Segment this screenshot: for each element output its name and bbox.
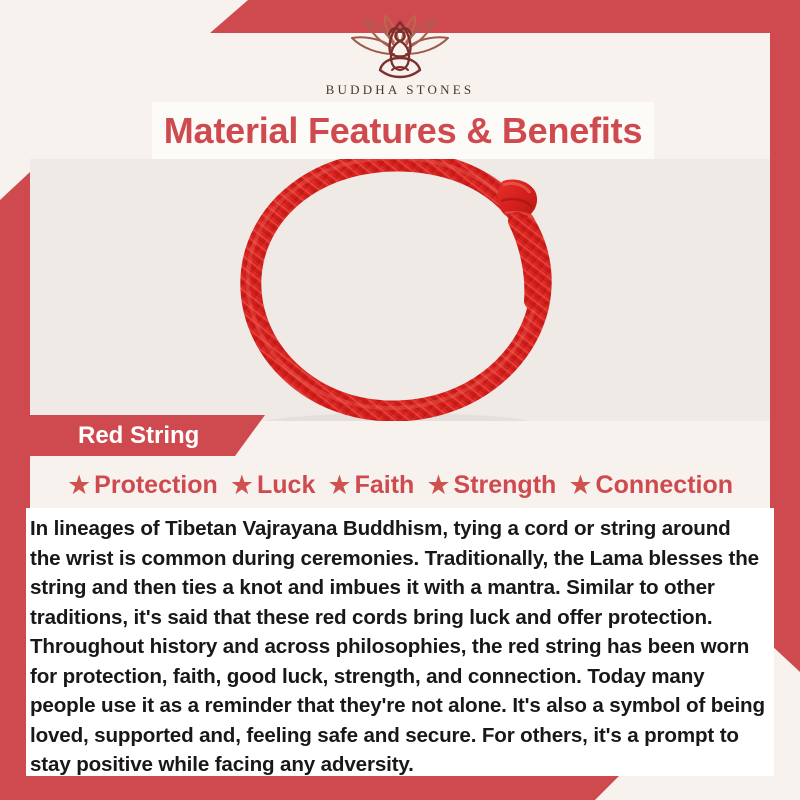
benefit-label: Strength — [454, 471, 557, 500]
benefit-label: Luck — [257, 471, 315, 500]
material-label: Red String — [30, 422, 199, 450]
benefits-row: ★ Protection ★ Luck ★ Faith ★ Strength ★… — [30, 463, 770, 507]
benefit-item: ★ Luck — [226, 471, 320, 500]
brand-name: BUDDHA STONES — [326, 82, 475, 98]
benefit-item: ★ Strength — [422, 471, 560, 500]
star-icon: ★ — [426, 472, 450, 499]
infographic-poster: BUDDHA STONES Material Features & Benefi… — [0, 0, 800, 800]
star-icon: ★ — [568, 472, 592, 499]
benefit-item: ★ Faith — [323, 471, 418, 500]
red-braided-string-bracelet-loop — [185, 159, 615, 421]
star-icon: ★ — [327, 472, 351, 499]
benefit-label: Protection — [94, 471, 218, 500]
page-title: Material Features & Benefits — [164, 110, 643, 152]
benefit-item: ★ Protection — [63, 471, 222, 500]
logo-lockup: BUDDHA STONES — [326, 14, 475, 98]
star-icon: ★ — [67, 472, 91, 499]
title-banner: Material Features & Benefits — [152, 102, 654, 159]
lotus-meditation-figure-icon — [336, 14, 464, 86]
benefit-label: Faith — [355, 471, 415, 500]
description-text: In lineages of Tibetan Vajrayana Buddhis… — [26, 514, 774, 780]
material-label-banner: Red String — [30, 415, 265, 456]
product-image-panel — [30, 159, 770, 421]
benefit-item: ★ Connection — [564, 471, 737, 500]
description-panel: In lineages of Tibetan Vajrayana Buddhis… — [26, 508, 774, 776]
star-icon: ★ — [230, 472, 254, 499]
brand-header: BUDDHA STONES — [0, 0, 800, 105]
benefit-label: Connection — [596, 471, 734, 500]
